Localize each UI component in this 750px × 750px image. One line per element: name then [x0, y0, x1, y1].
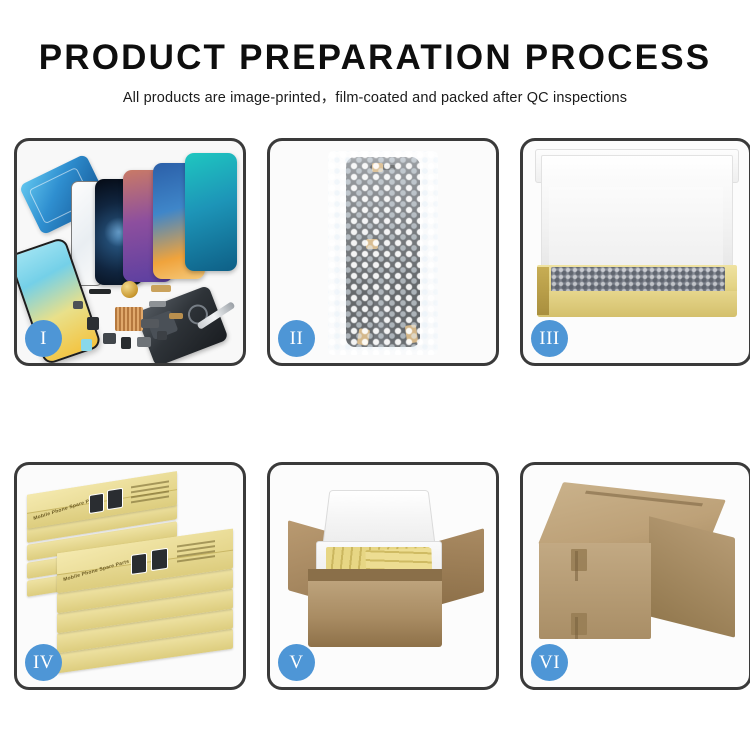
process-step-grid: I II [14, 138, 736, 690]
carton-flap-right-icon [436, 528, 484, 606]
box-phone-image [131, 553, 147, 575]
packing-tape-icon [571, 549, 587, 571]
speaker-component-icon [121, 281, 138, 298]
packing-tape-icon [571, 613, 587, 635]
box-phone-image [89, 493, 104, 514]
carton-side-icon [649, 516, 735, 637]
inner-box-front-icon [537, 291, 737, 317]
step-badge-2: II [278, 320, 315, 357]
foam-lid-icon [322, 490, 436, 548]
page-title: PRODUCT PREPARATION PROCESS [0, 40, 750, 77]
component-icon [73, 301, 83, 309]
process-step-1: I [14, 138, 246, 366]
component-icon [87, 317, 99, 330]
box-phone-image [107, 488, 123, 511]
process-step-5: V [267, 462, 499, 690]
process-step-2: II [267, 138, 499, 366]
step-badge-5: V [278, 644, 315, 681]
component-icon [149, 301, 166, 307]
carton-front-icon [539, 543, 651, 639]
foam-sheet-icon [549, 187, 723, 265]
component-icon [121, 337, 131, 349]
copper-mesh-component-icon [115, 307, 143, 331]
component-icon [141, 319, 159, 328]
page-subtitle: All products are image-printed，film-coat… [0, 86, 750, 107]
component-icon [103, 333, 116, 344]
process-step-4: Mobile Phone Spare Parts Mobile [14, 462, 246, 690]
step-badge-3: III [531, 320, 568, 357]
component-icon [89, 289, 111, 294]
inner-box-side-icon [537, 267, 549, 315]
bubble-texture-icon [328, 151, 438, 355]
component-icon [81, 339, 92, 351]
step-badge-4: IV [25, 644, 62, 681]
phone-display-teal-icon [185, 153, 237, 271]
carton-seam [575, 617, 578, 639]
component-icon [157, 331, 167, 340]
component-icon [169, 313, 183, 319]
step-badge-1: I [25, 320, 62, 357]
box-phone-image [151, 548, 168, 571]
product-preparation-infographic: PRODUCT PREPARATION PROCESS All products… [0, 0, 750, 750]
carton-body-icon [308, 581, 442, 647]
process-step-6: VI [520, 462, 750, 690]
component-icon [137, 337, 151, 347]
component-icon [151, 285, 171, 292]
process-step-3: III [520, 138, 750, 366]
header: PRODUCT PREPARATION PROCESS All products… [0, 0, 750, 107]
bubble-wrap-bag-icon [328, 151, 438, 355]
step-badge-6: VI [531, 644, 568, 681]
carton-seam [575, 551, 578, 581]
